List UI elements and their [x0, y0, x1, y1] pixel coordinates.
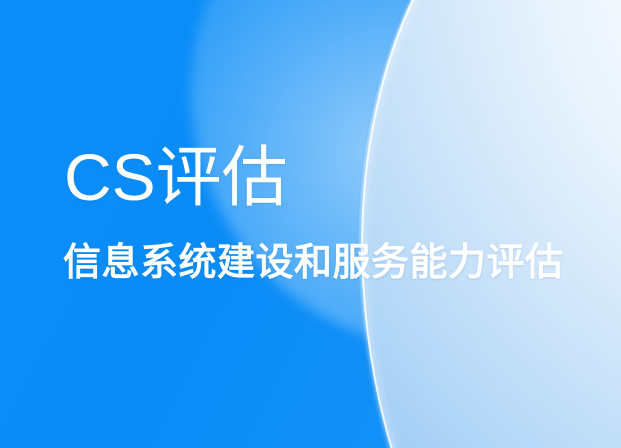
- banner-text-block: CS评估 信息系统建设和服务能力评估: [0, 0, 621, 448]
- cs-assessment-banner: CS评估 信息系统建设和服务能力评估: [0, 0, 621, 448]
- page-subtitle: 信息系统建设和服务能力评估: [63, 239, 564, 287]
- page-title: CS评估: [64, 138, 288, 216]
